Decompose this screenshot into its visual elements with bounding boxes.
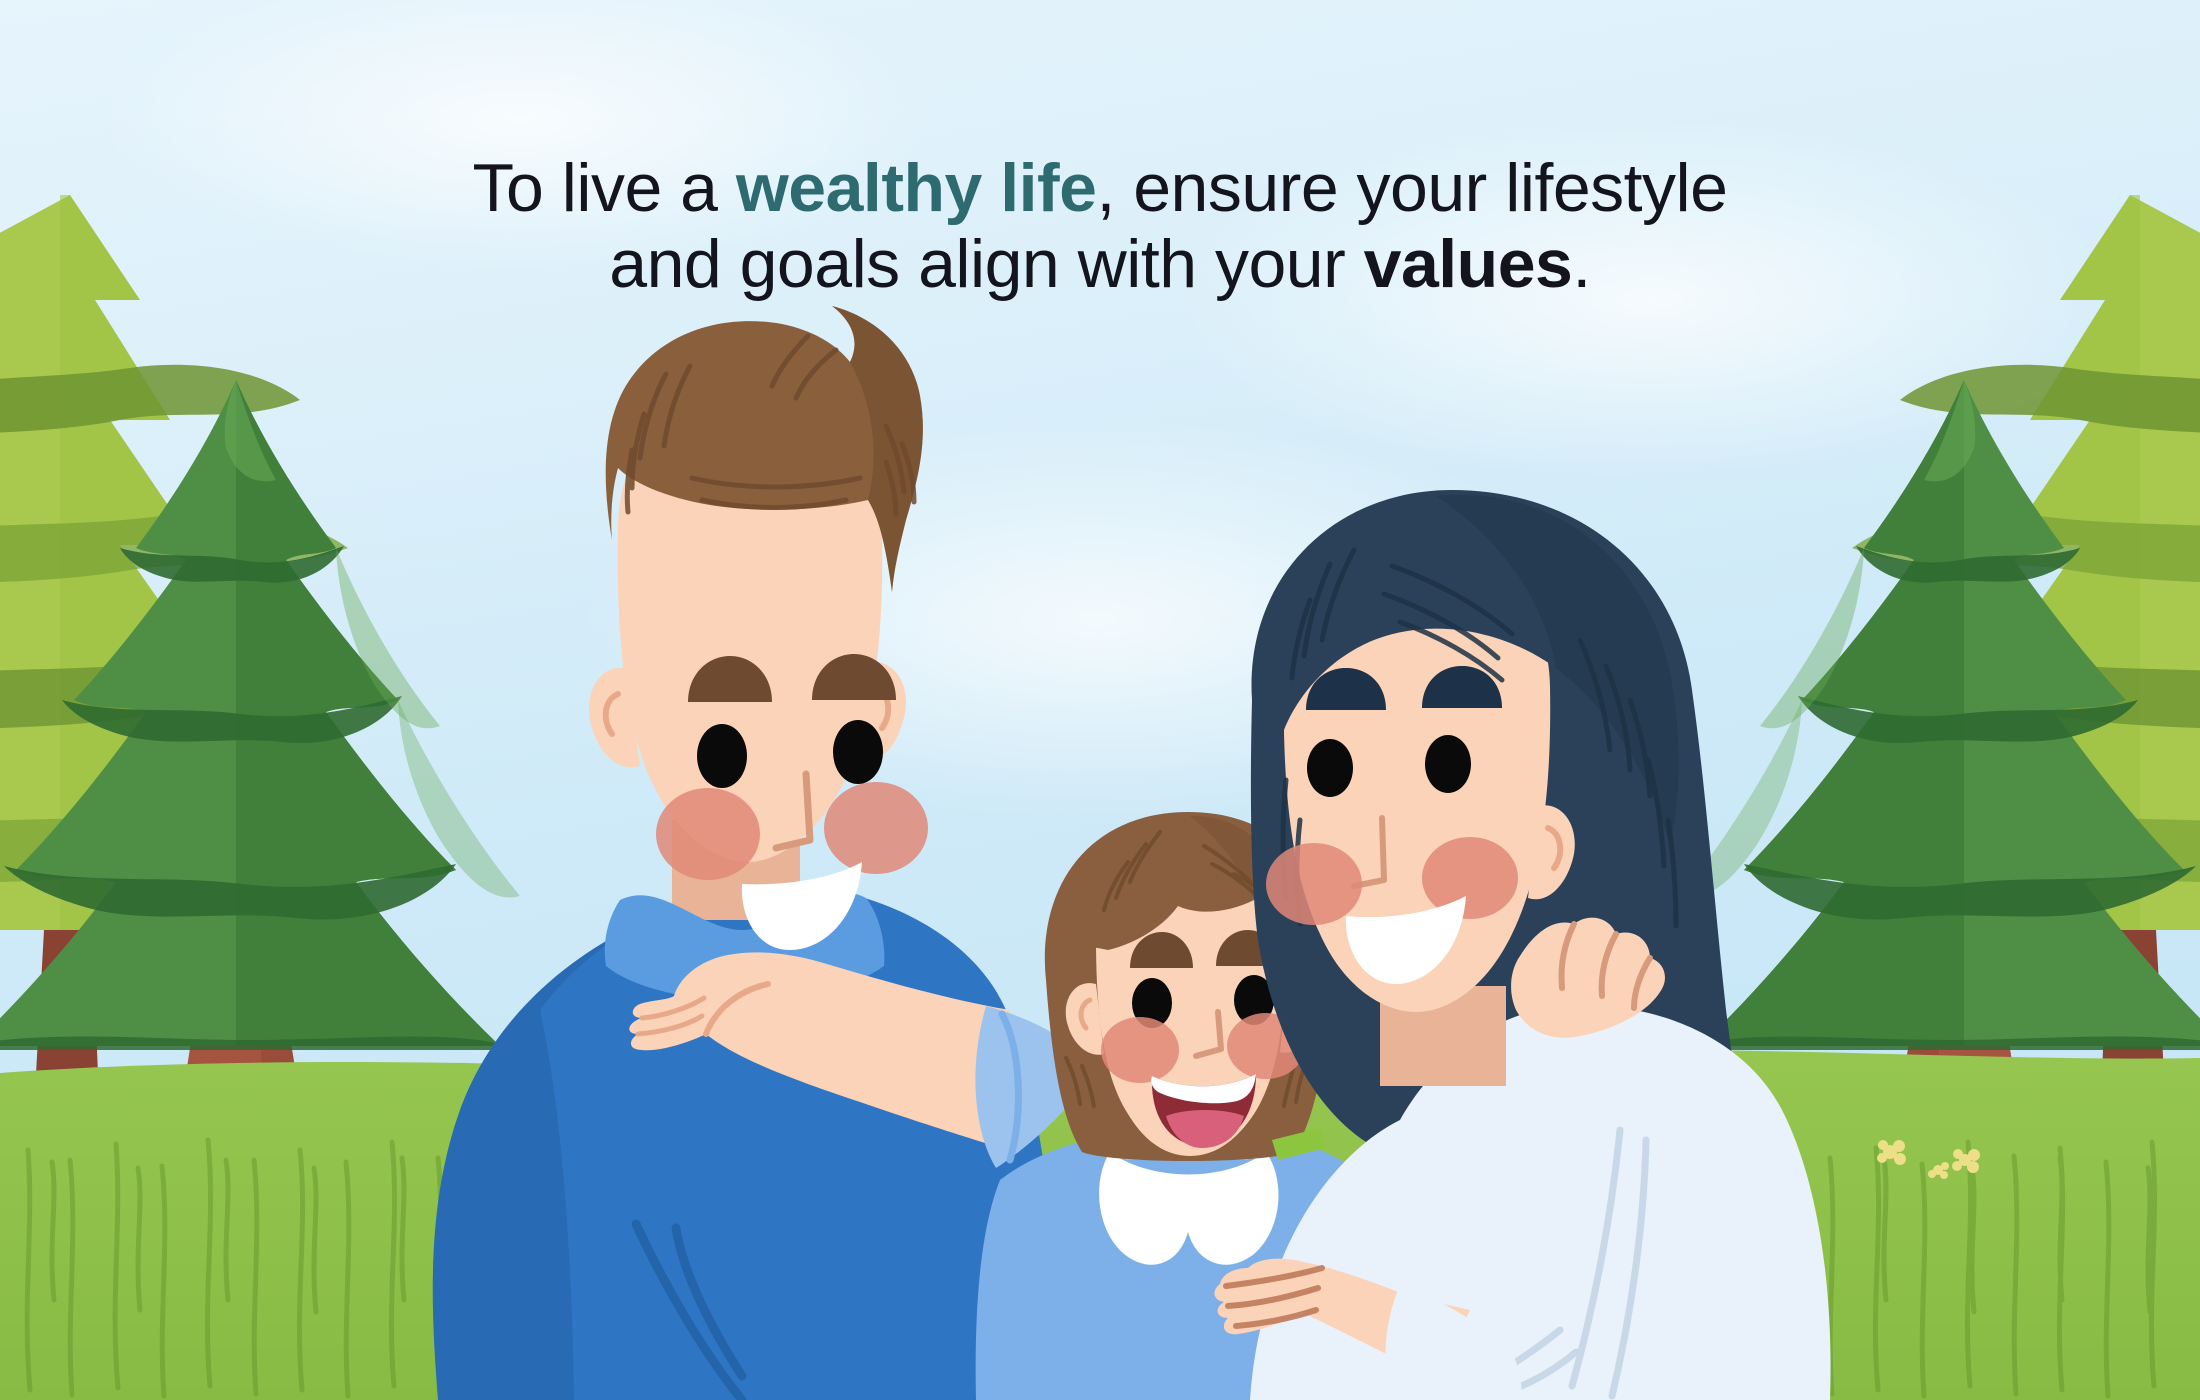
mother-eye-right: [1425, 735, 1471, 793]
father-cheek-left: [656, 788, 760, 880]
illustration-canvas: To live a wealthy life, ensure your life…: [0, 0, 2200, 1400]
father-eye-left: [697, 724, 747, 788]
mother-cheek-left: [1266, 843, 1362, 925]
mother-eye-left: [1307, 739, 1353, 797]
girl-cheek-left: [1101, 1017, 1179, 1083]
father-eye-right: [833, 720, 883, 784]
scene-illustration: [0, 0, 2200, 1400]
father-cheek-right: [824, 782, 928, 874]
mother-cheek-right: [1422, 837, 1518, 919]
